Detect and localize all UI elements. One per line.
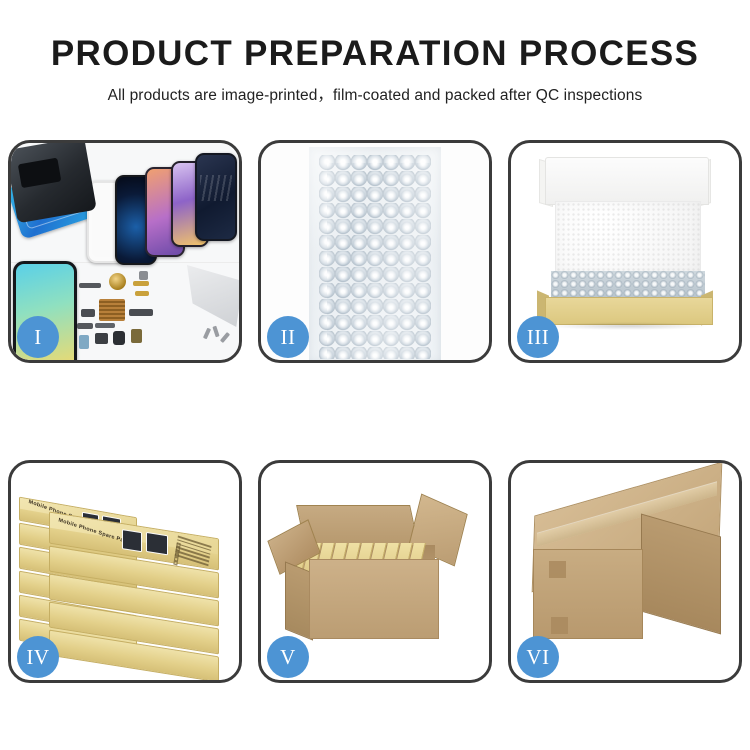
- step-card-2: II: [258, 140, 492, 363]
- step-card-5: V: [258, 460, 492, 683]
- foam-sheet-icon: [555, 201, 701, 275]
- carton-front-panel: [309, 559, 439, 639]
- flex-cable-icon: [79, 283, 101, 288]
- gold-connector-icon: [133, 281, 149, 286]
- step-badge-5: V: [267, 636, 309, 678]
- step-card-1: I: [8, 140, 242, 363]
- shield-plate-icon: [95, 323, 115, 328]
- step-badge-6: VI: [517, 636, 559, 678]
- step-card-3: III: [508, 140, 742, 363]
- header: PRODUCT PREPARATION PROCESS All products…: [0, 34, 750, 105]
- vibrator-motor-icon: [95, 333, 108, 344]
- step-badge-4: IV: [17, 636, 59, 678]
- step-badge-1: I: [17, 316, 59, 358]
- step-badge-2: II: [267, 316, 309, 358]
- spare-parts-group: [77, 275, 163, 360]
- step-card-4: Mobile Phone Spare Parts Mobile Phone Sp…: [8, 460, 242, 683]
- speaker-coil-icon: [109, 273, 126, 290]
- box-lid-icon: [545, 157, 709, 205]
- inner-bubble-wrap-icon: [551, 271, 705, 299]
- carton-hand-hole-top: [549, 561, 566, 578]
- steps-grid: I II: [8, 140, 742, 683]
- plastic-sheen-overlay: [309, 147, 441, 360]
- battery-connector-icon: [113, 331, 125, 345]
- screws-icon: [203, 326, 233, 348]
- sim-tray-icon: [79, 335, 89, 349]
- box-front-panel: [545, 297, 713, 325]
- phone-motherboard-icon: [11, 143, 97, 223]
- speaker-module-icon: [131, 329, 142, 343]
- ribbon-cable-icon: [77, 323, 93, 329]
- camera-module-icon: [81, 309, 95, 317]
- box-shadow: [549, 322, 707, 330]
- product-preparation-infographic: PRODUCT PREPARATION PROCESS All products…: [0, 0, 750, 750]
- carton-hand-hole-bottom: [551, 617, 568, 634]
- keypad-chip-icon: [99, 299, 125, 321]
- gold-bracket-icon: [135, 291, 149, 296]
- page-title: PRODUCT PREPARATION PROCESS: [0, 34, 750, 74]
- page-subtitle: All products are image-printed，film-coat…: [0, 83, 750, 105]
- step-badge-3: III: [517, 316, 559, 358]
- box-screen-photo: [146, 532, 168, 555]
- box-screen-photo: [122, 529, 142, 552]
- antenna-strip-icon: [129, 309, 153, 316]
- phone-screen-wave-icon: [195, 153, 237, 241]
- step-card-6: VI: [508, 460, 742, 683]
- screw-plate-icon: [139, 271, 148, 280]
